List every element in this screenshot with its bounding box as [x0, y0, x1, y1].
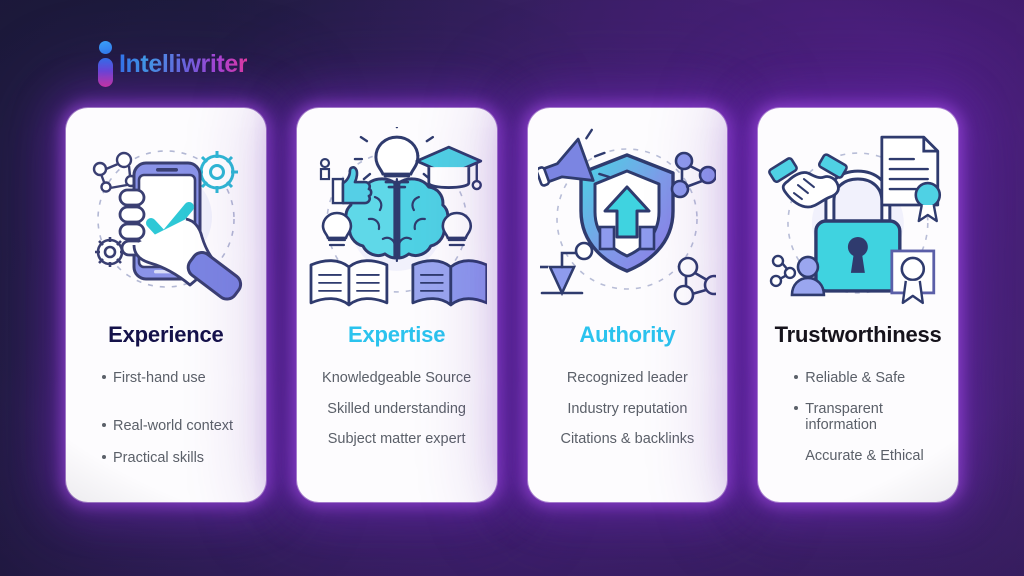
- shield-arrow-megaphone-icon: [538, 122, 718, 318]
- card-title-trustworthiness: Trustworthiness: [775, 322, 942, 348]
- intelliwriter-i-mark-icon: [97, 41, 114, 87]
- list-item-label: Knowledgeable Source: [322, 370, 471, 387]
- list-item-label: Practical skills: [113, 450, 204, 467]
- list-item-label: Accurate & Ethical: [805, 448, 923, 465]
- list-item: Recognized leader: [567, 370, 688, 387]
- list-item-label: Transparent information: [805, 401, 948, 434]
- card-list-experience: First-hand useReal-world contextPractica…: [76, 370, 256, 467]
- card-list-trustworthiness: Reliable & SafeTransparent informationAc…: [768, 370, 948, 465]
- list-item: Skilled understanding: [327, 401, 466, 418]
- logo-stem-icon: [98, 58, 113, 87]
- brand-logo[interactable]: Intelliwriter: [97, 41, 247, 87]
- card-title-experience: Experience: [108, 322, 223, 348]
- bullet-dot-icon: [102, 375, 106, 379]
- card-list-authority: Recognized leaderIndustry reputationCita…: [538, 370, 718, 448]
- list-item-label: Recognized leader: [567, 370, 688, 387]
- list-item: Practical skills: [102, 450, 204, 467]
- list-item: Reliable & Safe: [794, 370, 905, 387]
- card-title-expertise: Expertise: [348, 322, 445, 348]
- list-item: Citations & backlinks: [560, 431, 694, 448]
- list-item: Subject matter expert: [328, 431, 466, 448]
- card-title-authority: Authority: [579, 322, 675, 348]
- list-item: Accurate & Ethical: [794, 448, 923, 465]
- bullet-dot-icon: [102, 455, 106, 459]
- list-item: Real-world context: [102, 418, 233, 435]
- shield-arrow-megaphone-icon: [538, 127, 716, 313]
- brain-lightbulb-knowledge-icon: [307, 127, 487, 313]
- list-item-label: Skilled understanding: [327, 401, 466, 418]
- hand-holding-phone-checkmark-icon: [78, 127, 254, 313]
- eeat-card-authority[interactable]: AuthorityRecognized leaderIndustry reput…: [528, 108, 728, 502]
- list-item-label: Reliable & Safe: [805, 370, 905, 387]
- list-item-label: Subject matter expert: [328, 431, 466, 448]
- eeat-card-expertise[interactable]: ExpertiseKnowledgeable SourceSkilled und…: [297, 108, 497, 502]
- bullet-dot-icon: [794, 406, 798, 410]
- eeat-card-experience[interactable]: ExperienceFirst-hand useReal-world conte…: [66, 108, 266, 502]
- list-item-label: Citations & backlinks: [560, 431, 694, 448]
- list-item: First-hand use: [102, 370, 206, 387]
- eeat-cards-row: ExperienceFirst-hand useReal-world conte…: [66, 108, 958, 502]
- bullet-dot-icon: [102, 423, 106, 427]
- padlock-handshake-certificate-icon: [768, 127, 948, 313]
- card-list-expertise: Knowledgeable SourceSkilled understandin…: [307, 370, 487, 448]
- list-item: Industry reputation: [567, 401, 687, 418]
- bullet-dot-icon: [794, 375, 798, 379]
- padlock-handshake-certificate-icon: [768, 122, 948, 318]
- brand-name: Intelliwriter: [119, 50, 247, 79]
- list-item: Knowledgeable Source: [322, 370, 471, 387]
- list-item-label: Real-world context: [113, 418, 233, 435]
- eeat-card-trustworthiness[interactable]: TrustworthinessReliable & SafeTransparen…: [758, 108, 958, 502]
- hand-holding-phone-checkmark-icon: [76, 122, 256, 318]
- list-item-label: Industry reputation: [567, 401, 687, 418]
- list-item: Transparent information: [794, 401, 948, 434]
- logo-dot-icon: [99, 41, 112, 54]
- list-item-label: First-hand use: [113, 370, 206, 387]
- brain-lightbulb-knowledge-icon: [307, 122, 487, 318]
